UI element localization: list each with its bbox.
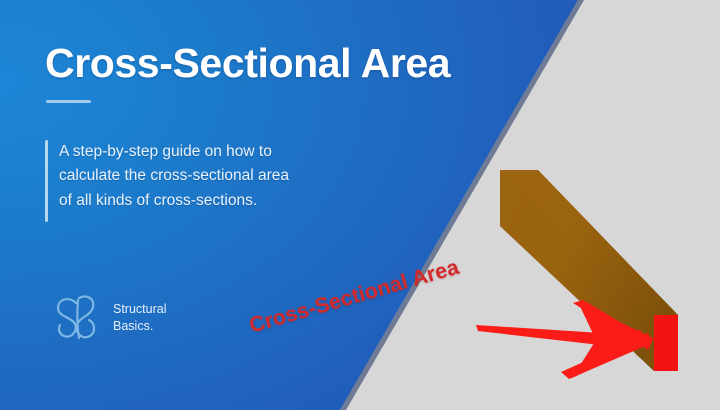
logo-line-1: Structural — [113, 301, 167, 318]
subtitle-line-3: of all kinds of cross-sections. — [59, 192, 257, 209]
title-divider — [46, 100, 91, 103]
page-title: Cross-Sectional Area — [45, 41, 450, 86]
text-content: Cross-Sectional Area A step-by-step guid… — [45, 0, 515, 410]
brand-logo: Structural Basics. — [53, 290, 167, 346]
subtitle-line-2: calculate the cross-sectional area — [59, 167, 289, 184]
subtitle-line-1: A step-by-step guide on how to — [59, 143, 272, 160]
subtitle-text: A step-by-step guide on how to calculate… — [48, 140, 289, 222]
logo-line-2: Basics. — [113, 318, 167, 335]
cross-section-face — [654, 315, 678, 371]
subtitle-block: A step-by-step guide on how to calculate… — [45, 140, 289, 222]
video-thumbnail: Cross-Sectional Area A step-by-step guid… — [0, 0, 720, 410]
logo-wordmark: Structural Basics. — [107, 301, 167, 335]
sb-monogram-icon — [53, 290, 107, 346]
